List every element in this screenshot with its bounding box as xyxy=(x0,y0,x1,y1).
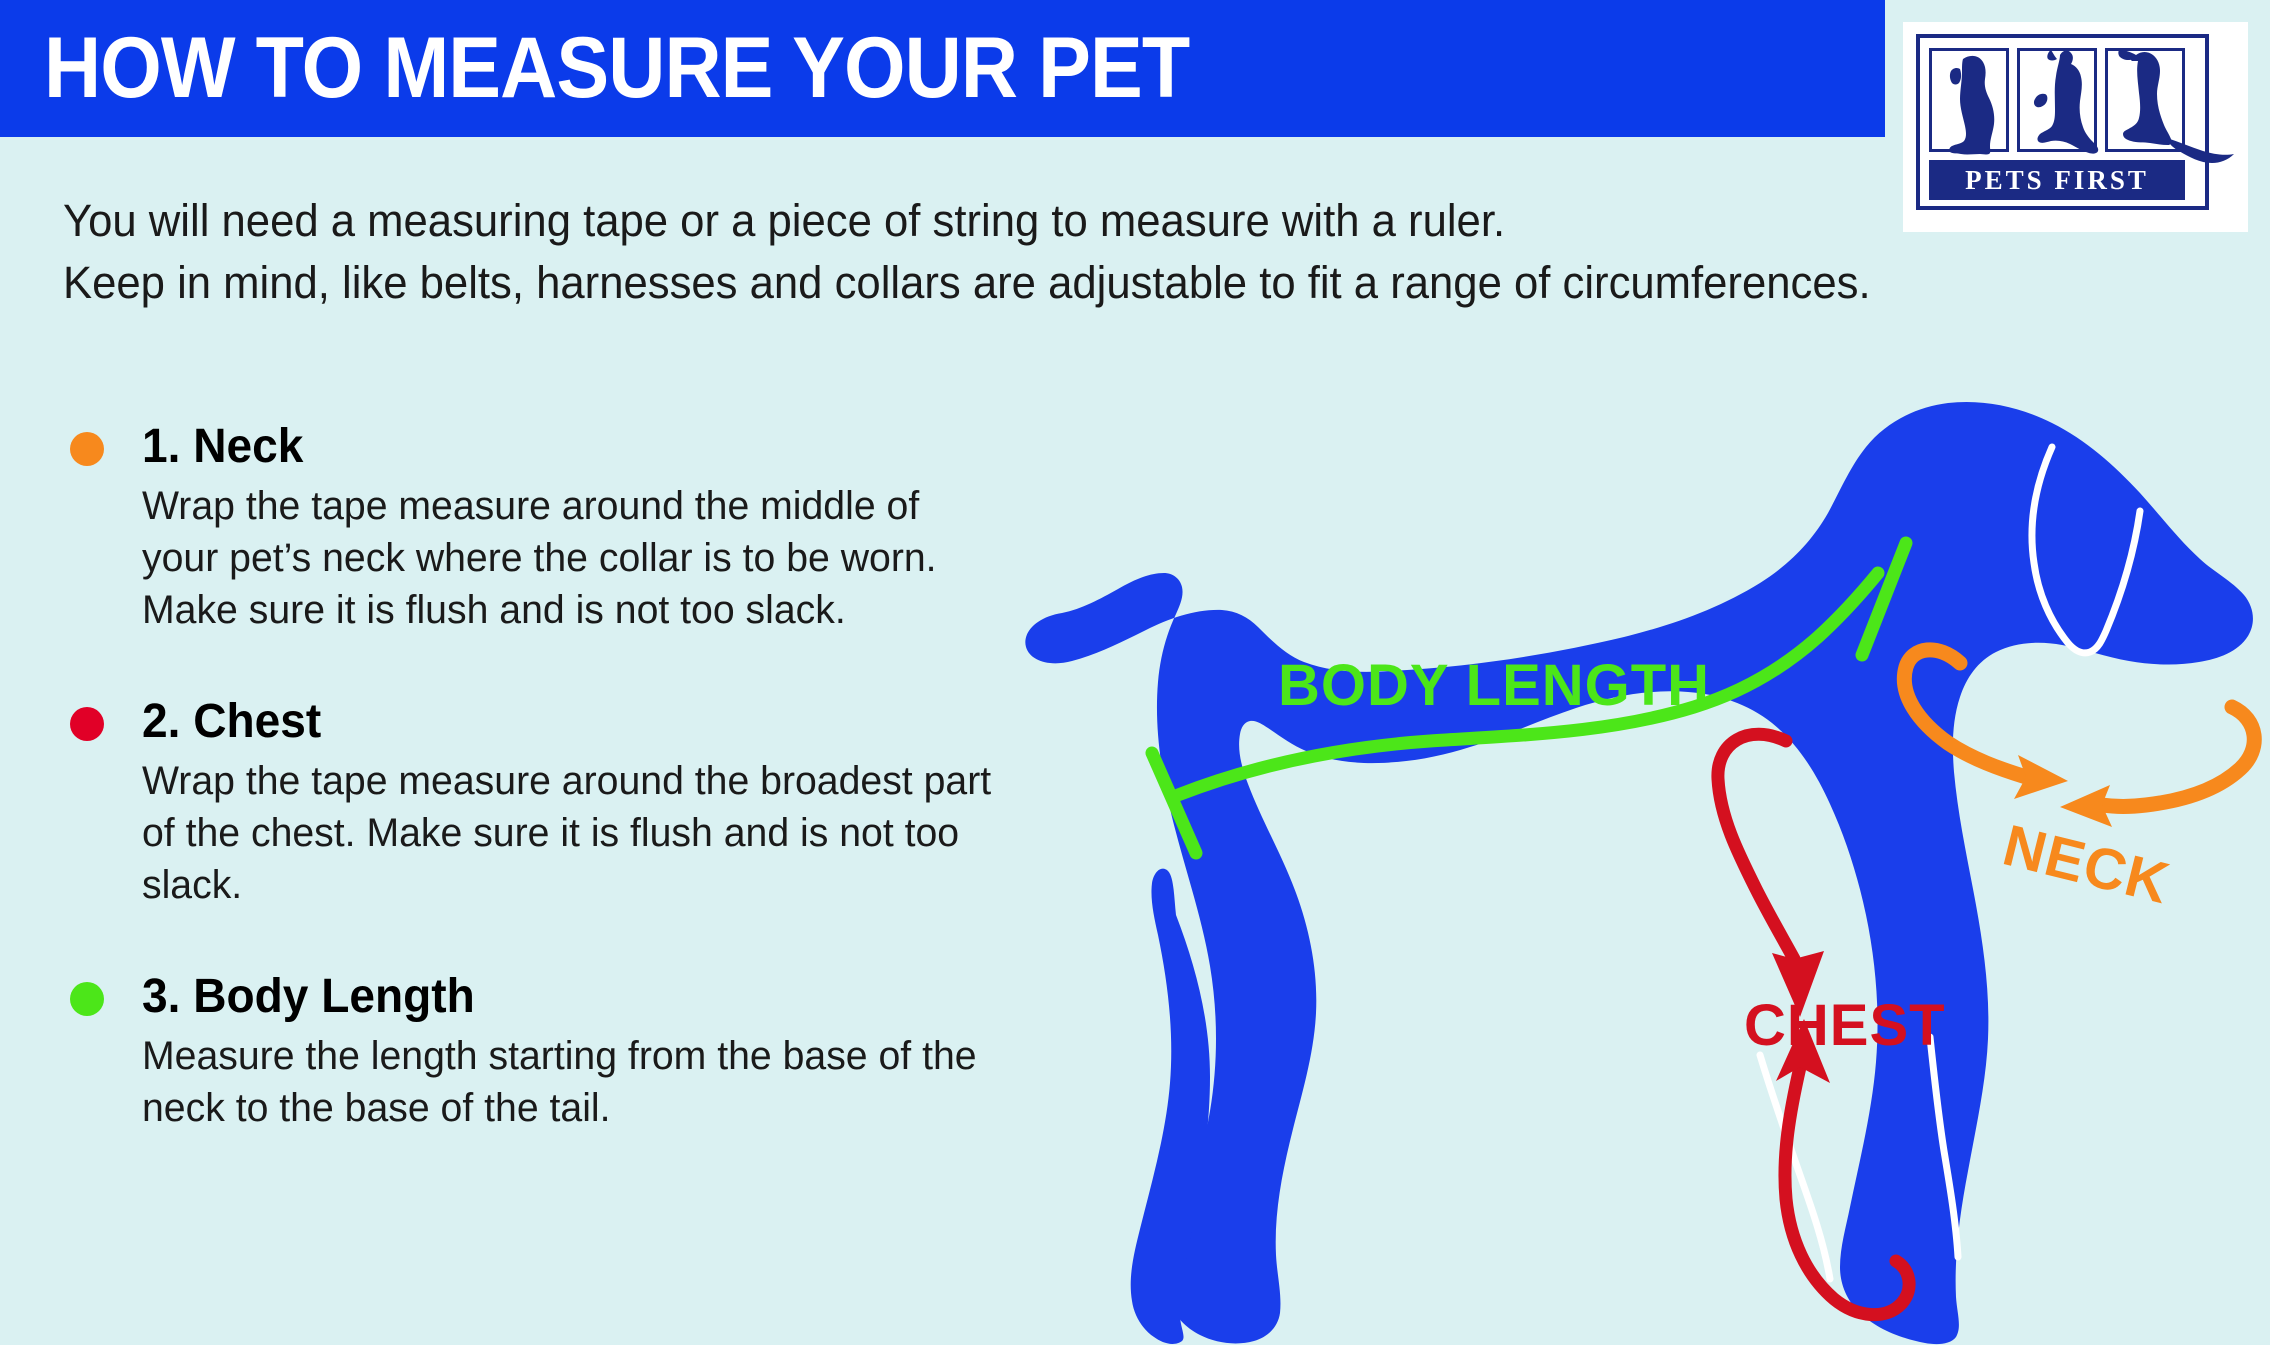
bullet-dot-chest xyxy=(70,707,104,741)
logo-dog-tail-icon xyxy=(2165,126,2249,166)
step-description-body-length: Measure the length starting from the bas… xyxy=(142,1030,1004,1134)
label-body-length: BODY LENGTH xyxy=(1278,653,1710,718)
step-item-chest: 2. Chest Wrap the tape measure around th… xyxy=(62,693,1072,911)
bullet-dot-body-length xyxy=(70,982,104,1016)
bullet-dot-neck xyxy=(70,432,104,466)
intro-line-2: Keep in mind, like belts, harnesses and … xyxy=(63,252,1809,314)
logo-dog-pane-1 xyxy=(1929,48,2009,152)
header-banner: HOW TO MEASURE YOUR PET xyxy=(0,0,1885,137)
logo-wordmark-bar: PETS FIRST xyxy=(1929,160,2185,200)
step-title-neck: 1. Neck xyxy=(142,418,1035,476)
intro-paragraph: You will need a measuring tape or a piec… xyxy=(63,190,1863,314)
intro-line-1: You will need a measuring tape or a piec… xyxy=(63,190,1809,252)
label-neck: NECK xyxy=(1997,813,2176,917)
step-description-chest: Wrap the tape measure around the broades… xyxy=(142,755,1004,911)
measurement-steps-list: 1. Neck Wrap the tape measure around the… xyxy=(62,418,1072,1191)
logo-dog-pane-2 xyxy=(2017,48,2097,152)
dog-measurement-diagram: BODY LENGTH NECK CHEST xyxy=(1000,355,2270,1345)
step-item-body-length: 3. Body Length Measure the length starti… xyxy=(62,968,1072,1134)
label-chest: CHEST xyxy=(1744,993,1946,1058)
brand-logo: PETS FIRST xyxy=(1903,22,2248,232)
step-item-neck: 1. Neck Wrap the tape measure around the… xyxy=(62,418,1072,636)
logo-wordmark: PETS FIRST xyxy=(1929,160,2185,200)
page-title: HOW TO MEASURE YOUR PET xyxy=(44,16,1189,120)
step-title-chest: 2. Chest xyxy=(142,693,1035,751)
logo-frame: PETS FIRST xyxy=(1916,34,2209,210)
step-description-neck: Wrap the tape measure around the middle … xyxy=(142,480,1004,636)
step-title-body-length: 3. Body Length xyxy=(142,968,1035,1026)
infographic-page: HOW TO MEASURE YOUR PET xyxy=(0,0,2270,1345)
